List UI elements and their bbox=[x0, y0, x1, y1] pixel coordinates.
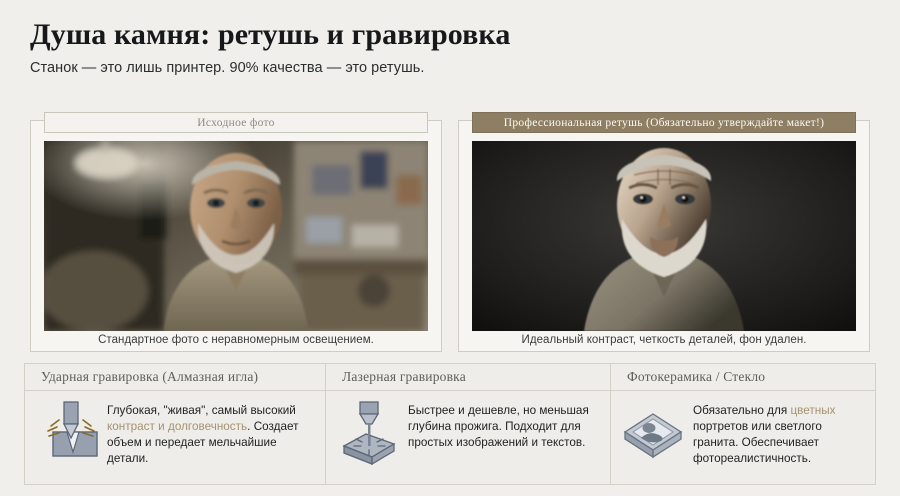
laser-head-icon bbox=[336, 400, 400, 466]
page-title: Душа камня: ретушь и гравировка bbox=[30, 18, 876, 51]
method-text-impact: Глубокая, "живая", самый высокий контрас… bbox=[107, 400, 315, 467]
after-photo bbox=[472, 141, 856, 331]
highlighted-text: цветных bbox=[790, 404, 835, 417]
before-caption: Стандартное фото с неравномерным освещен… bbox=[44, 334, 428, 346]
after-card-bar: Профессиональная ретушь (Обязательно утв… bbox=[472, 112, 856, 133]
header: Душа камня: ретушь и гравировка Станок —… bbox=[30, 18, 876, 76]
body-text: Обязательно для bbox=[693, 404, 790, 417]
method-title-ceramic: Фотокерамика / Стекло bbox=[611, 364, 875, 391]
method-column-laser: Лазерная гравировка bbox=[325, 364, 610, 484]
slide-root: Душа камня: ретушь и гравировка Станок —… bbox=[0, 0, 900, 496]
body-text: Глубокая, "живая", самый высокий bbox=[107, 404, 296, 417]
photo-ceramic-tile-icon bbox=[621, 400, 685, 466]
body-text: портретов или светлого гранита. Обеспечи… bbox=[693, 420, 822, 465]
page-subtitle: Станок — это лишь принтер. 90% качества … bbox=[30, 60, 876, 76]
before-photo bbox=[44, 141, 428, 331]
before-card-label: Исходное фото bbox=[197, 117, 274, 129]
after-photo-card: Профессиональная ретушь (Обязательно утв… bbox=[458, 112, 870, 352]
after-card-label: Профессиональная ретушь (Обязательно утв… bbox=[504, 117, 824, 129]
body-text: Быстрее и дешевле, но меньшая глубина пр… bbox=[408, 404, 589, 449]
highlighted-text: контраст и долговечность bbox=[107, 420, 247, 433]
methods-panel: Ударная гравировка (Алмазная игла) bbox=[24, 363, 876, 485]
method-title-impact: Ударная гравировка (Алмазная игла) bbox=[25, 364, 325, 391]
before-card-bar: Исходное фото bbox=[44, 112, 428, 133]
method-title-laser: Лазерная гравировка bbox=[326, 364, 610, 391]
method-column-impact: Ударная гравировка (Алмазная игла) bbox=[25, 364, 325, 484]
method-text-laser: Быстрее и дешевле, но меньшая глубина пр… bbox=[408, 400, 600, 466]
after-caption: Идеальный контраст, четкость деталей, фо… bbox=[472, 334, 856, 346]
method-column-ceramic: Фотокерамика / Стекло Обязательно для цв… bbox=[610, 364, 875, 484]
comparison-cards: Исходное фото bbox=[30, 112, 870, 352]
diamond-needle-icon bbox=[35, 400, 99, 466]
before-photo-card: Исходное фото bbox=[30, 112, 442, 352]
method-text-ceramic: Обязательно для цветных портретов или св… bbox=[693, 400, 865, 467]
